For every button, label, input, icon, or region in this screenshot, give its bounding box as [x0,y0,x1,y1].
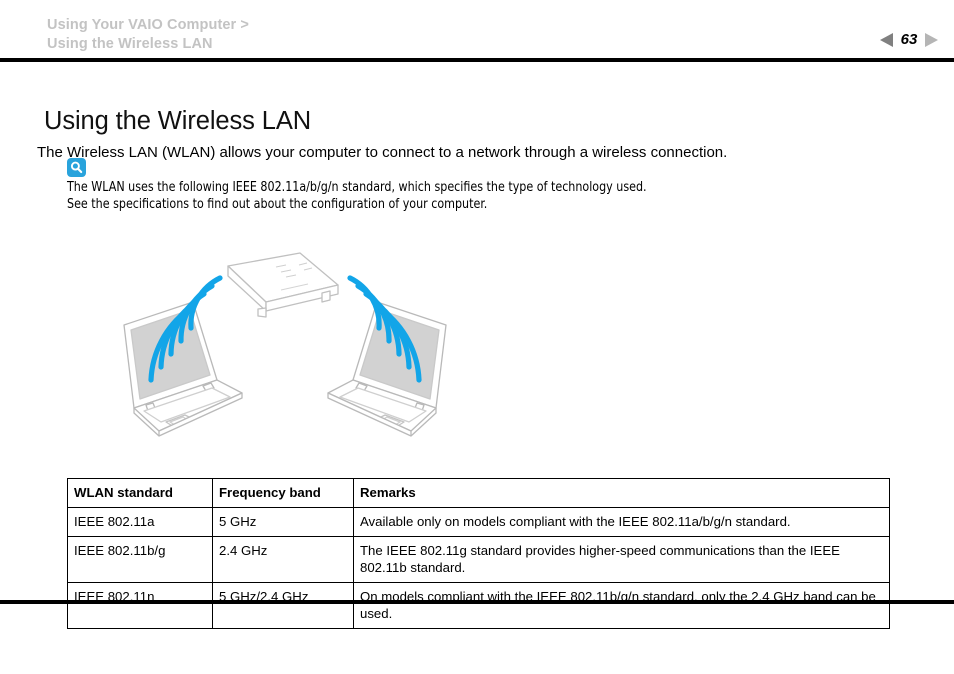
breadcrumb-line-2: Using the Wireless LAN [47,35,249,54]
table-header-row: WLAN standard Frequency band Remarks [68,479,890,508]
cell-standard: IEEE 802.11n [68,583,213,629]
cell-standard: IEEE 802.11b/g [68,537,213,583]
page-number: 63 [900,31,918,48]
table-row: IEEE 802.11b/g 2.4 GHz The IEEE 802.11g … [68,537,890,583]
header-divider [0,58,954,62]
wireless-lan-diagram [60,245,510,460]
note-line-2: See the specifications to find out about… [67,196,718,213]
cell-remarks: On models compliant with the IEEE 802.11… [354,583,890,629]
cell-band: 2.4 GHz [213,537,354,583]
note-block: The WLAN uses the following IEEE 802.11a… [67,158,767,213]
table-row: IEEE 802.11n 5 GHz/2.4 GHz On models com… [68,583,890,629]
wlan-standards-table: WLAN standard Frequency band Remarks IEE… [67,478,890,629]
cell-standard: IEEE 802.11a [68,508,213,537]
cell-remarks: The IEEE 802.11g standard provides highe… [354,537,890,583]
cell-remarks: Available only on models compliant with … [354,508,890,537]
magnifier-icon [67,158,86,177]
page-title: Using the Wireless LAN [44,107,311,136]
column-header-remarks: Remarks [354,479,890,508]
breadcrumb: Using Your VAIO Computer > Using the Wir… [47,16,249,54]
column-header-standard: WLAN standard [68,479,213,508]
footer-divider [0,600,954,604]
cell-band: 5 GHz/2.4 GHz [213,583,354,629]
page-navigation: 63 [880,31,938,48]
note-text: The WLAN uses the following IEEE 802.11a… [67,179,767,213]
note-line-1: The WLAN uses the following IEEE 802.11a… [67,179,718,196]
table-row: IEEE 802.11a 5 GHz Available only on mod… [68,508,890,537]
page-header: Using Your VAIO Computer > Using the Wir… [0,0,954,61]
cell-band: 5 GHz [213,508,354,537]
triangle-left-icon[interactable] [880,33,893,47]
triangle-right-icon[interactable] [925,33,938,47]
wireless-access-point [228,253,338,317]
column-header-band: Frequency band [213,479,354,508]
breadcrumb-line-1: Using Your VAIO Computer > [47,16,249,35]
